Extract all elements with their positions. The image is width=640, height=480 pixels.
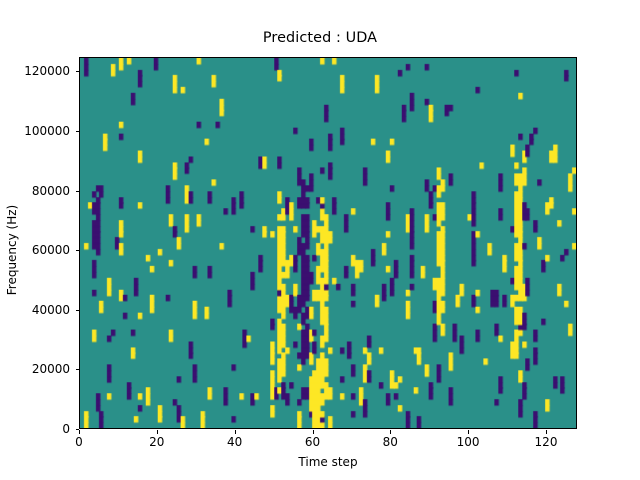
y-axis-label: Frequency (Hz) bbox=[5, 150, 19, 350]
ytick-3 bbox=[76, 250, 80, 251]
xtick-6 bbox=[546, 430, 547, 434]
xtick-5 bbox=[468, 430, 469, 434]
yticklabel-6: 120000 bbox=[0, 64, 70, 78]
xtick-4 bbox=[390, 430, 391, 434]
heatmap-image bbox=[80, 58, 576, 428]
xtick-3 bbox=[313, 430, 314, 434]
xtick-0 bbox=[79, 430, 80, 434]
xticklabel-6: 120 bbox=[516, 435, 576, 449]
ytick-2 bbox=[76, 310, 80, 311]
ytick-5 bbox=[76, 131, 80, 132]
xticklabel-4: 80 bbox=[360, 435, 420, 449]
ytick-4 bbox=[76, 191, 80, 192]
yticklabel-1: 20000 bbox=[0, 362, 70, 376]
ytick-1 bbox=[76, 369, 80, 370]
xticklabel-3: 60 bbox=[283, 435, 343, 449]
yticklabel-0: 0 bbox=[0, 422, 70, 436]
ytick-0 bbox=[76, 429, 80, 430]
xticklabel-5: 100 bbox=[438, 435, 498, 449]
xtick-2 bbox=[235, 430, 236, 434]
xtick-1 bbox=[157, 430, 158, 434]
heatmap-axes bbox=[79, 57, 577, 429]
xticklabel-0: 0 bbox=[49, 435, 109, 449]
chart-title: Predicted : UDA bbox=[0, 30, 640, 46]
figure-canvas: Predicted : UDA 0 20 40 60 80 100 120 0 … bbox=[0, 0, 640, 480]
xticklabel-2: 40 bbox=[205, 435, 265, 449]
yticklabel-5: 100000 bbox=[0, 124, 70, 138]
x-axis-label: Time step bbox=[79, 455, 577, 469]
ytick-6 bbox=[76, 71, 80, 72]
xticklabel-1: 20 bbox=[127, 435, 187, 449]
